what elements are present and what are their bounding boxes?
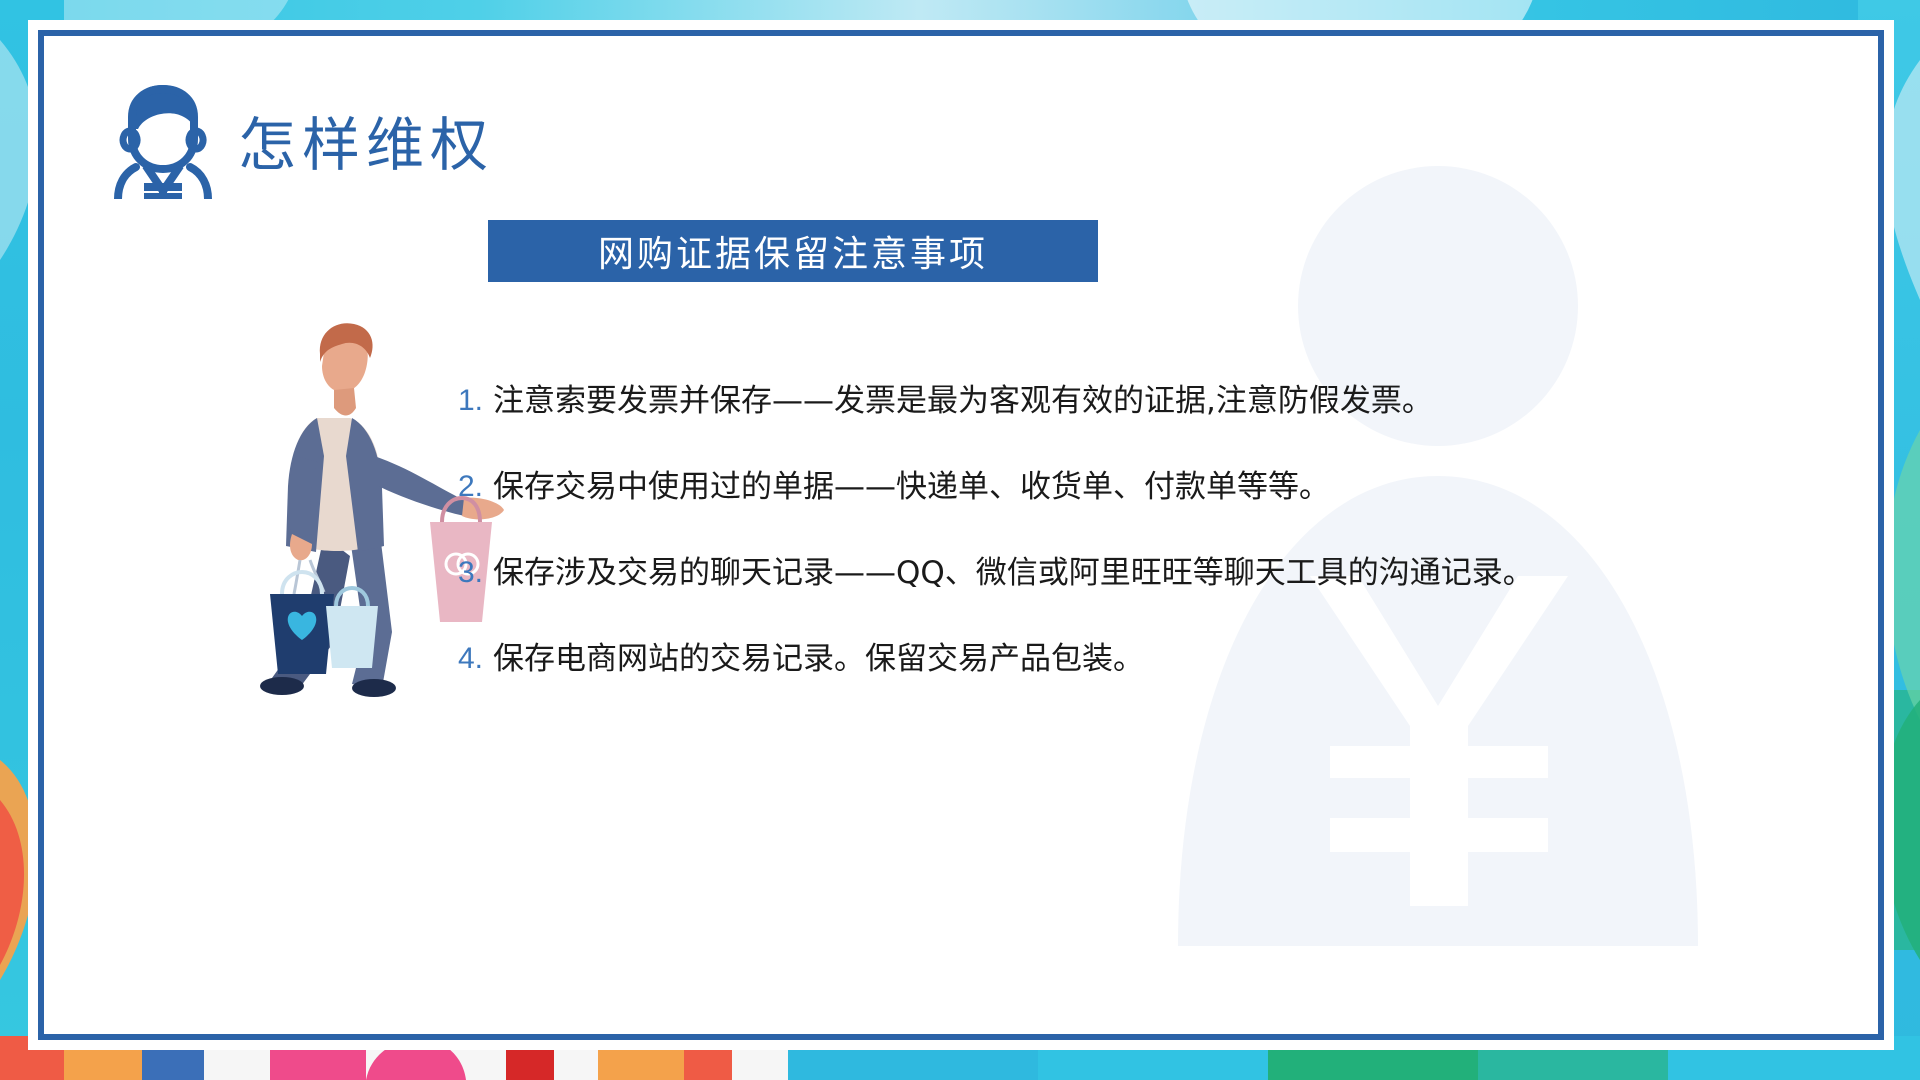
top-decor-band xyxy=(0,0,1920,34)
slide-canvas: 怎样维权 网购证据保留注意事项 xyxy=(0,0,1920,1080)
section-banner: 网购证据保留注意事项 xyxy=(488,220,1098,282)
evidence-list: 1. 注意索要发票并保存——发票是最为客观有效的证据,注意防假发票。 2. 保存… xyxy=(439,381,1809,724)
list-item-text: 保存涉及交易的聊天记录——QQ、微信或阿里旺旺等聊天工具的沟通记录。 xyxy=(493,553,1534,595)
page-title: 怎样维权 xyxy=(238,98,494,182)
list-item-text: 保存交易中使用过的单据——快递单、收货单、付款单等等。 xyxy=(493,467,1330,509)
person-yen-icon xyxy=(104,81,212,199)
list-item-number: 3. xyxy=(439,553,493,594)
list-item-number: 1. xyxy=(439,381,493,422)
list-item: 1. 注意索要发票并保存——发票是最为客观有效的证据,注意防假发票。 xyxy=(439,381,1809,423)
list-item: 2. 保存交易中使用过的单据——快递单、收货单、付款单等等。 xyxy=(439,467,1809,509)
list-item-text: 保存电商网站的交易记录。保留交易产品包装。 xyxy=(493,639,1144,681)
bottom-decor-shapes xyxy=(0,1036,1920,1080)
list-item-number: 4. xyxy=(439,639,493,680)
list-item: 3. 保存涉及交易的聊天记录——QQ、微信或阿里旺旺等聊天工具的沟通记录。 xyxy=(439,553,1809,595)
list-item-number: 2. xyxy=(439,467,493,508)
list-item: 4. 保存电商网站的交易记录。保留交易产品包装。 xyxy=(439,639,1809,681)
content-card: 怎样维权 网购证据保留注意事项 xyxy=(38,30,1884,1040)
list-item-text: 注意索要发票并保存——发票是最为客观有效的证据,注意防假发票。 xyxy=(493,381,1433,423)
section-banner-label: 网购证据保留注意事项 xyxy=(598,225,988,277)
slide-header: 怎样维权 xyxy=(104,81,494,199)
